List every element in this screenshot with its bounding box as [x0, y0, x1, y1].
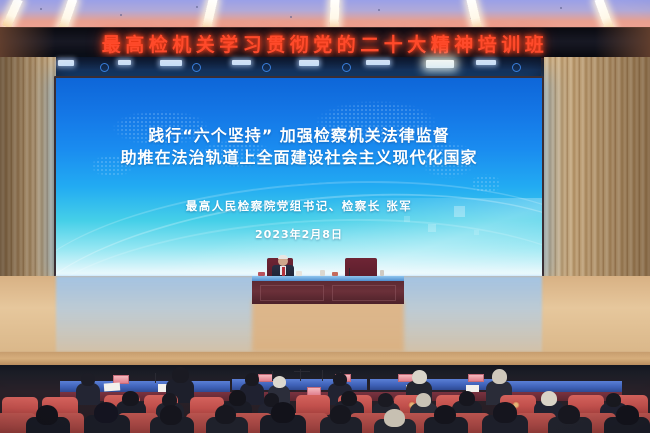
seated-attendee-head — [94, 402, 118, 423]
camera-lens-ring-icon — [342, 63, 351, 72]
stage-spotlight-icon — [232, 60, 251, 65]
stage-front-edge — [0, 352, 650, 365]
ceiling-downlight-dot — [560, 7, 562, 9]
podium-desk — [252, 276, 404, 304]
overhead-lighting-truss — [56, 57, 541, 79]
podium-cup — [380, 270, 384, 276]
stage-floor-warm-patch — [252, 300, 404, 352]
ceiling-downlight-dot — [120, 14, 122, 16]
delegate-name-card — [468, 374, 484, 382]
podium-panel-inset — [332, 285, 396, 301]
stage-spotlight-icon — [118, 60, 131, 65]
screen-accent-square — [404, 216, 410, 222]
seated-attendee-head — [330, 405, 351, 424]
podium-papers — [296, 271, 302, 276]
seated-attendee-head — [434, 405, 456, 424]
speaker-necktie — [282, 267, 285, 276]
seated-attendee-head — [271, 402, 295, 423]
podium-cup — [258, 272, 265, 276]
audience-seating-area — [0, 365, 650, 433]
seated-attendee-head — [273, 376, 286, 388]
camera-lens-ring-icon — [100, 63, 109, 72]
ceiling-downlight-dot — [378, 9, 380, 11]
seated-attendee-head — [541, 391, 557, 406]
podium-name-card — [332, 272, 338, 276]
speaker-hair — [278, 255, 288, 259]
conference-hall-photo: 最高检机关学习贯彻党的二十大精神培训班 践行“六个坚持” 加强检察机关法律监督 — [0, 0, 650, 433]
seated-attendee-head — [333, 373, 347, 386]
seated-attendee-head — [616, 405, 639, 425]
desk-microphone — [322, 370, 323, 381]
camera-lens-ring-icon — [262, 63, 271, 72]
stage-spotlight-icon — [366, 60, 390, 65]
camera-lens-ring-icon — [192, 63, 201, 72]
seated-attendee-head — [384, 409, 405, 427]
seated-attendee-head — [81, 373, 95, 386]
seated-attendee-head — [459, 391, 475, 406]
seated-attendee-head — [416, 393, 431, 407]
camera-lens-ring-icon — [512, 63, 521, 72]
desk-microphone-arm — [294, 371, 310, 372]
auditorium-ceiling — [0, 0, 650, 30]
screen-title-line-2: 助推在法治轨道上全面建设社会主义现代化国家 — [56, 144, 542, 168]
podium-cup — [320, 270, 325, 276]
podium-microphone — [349, 268, 350, 276]
stage-spotlight-icon — [476, 60, 496, 65]
stage-spotlight-icon — [426, 60, 454, 68]
screen-date: 2023年2月8日 — [56, 226, 542, 242]
desk-papers — [104, 382, 121, 391]
ceiling-downlight-dot — [290, 16, 292, 18]
screen-speaker-subtitle: 最高人民检察院党组书记、检察长 张军 — [56, 198, 542, 214]
stage-spotlight-icon — [160, 60, 182, 66]
ceiling-downlight-dot — [196, 6, 198, 8]
seated-attendee-head — [172, 367, 189, 383]
seated-attendee-head — [492, 369, 507, 384]
stage-spotlight-icon — [299, 60, 319, 66]
banner-edge-glow-left — [0, 27, 55, 57]
podium-panel-inset — [260, 285, 324, 301]
banner-edge-glow-right — [595, 27, 650, 57]
seated-attendee-head — [229, 390, 246, 406]
seated-attendee-shoulders — [76, 383, 100, 405]
front-row-desk — [502, 381, 622, 392]
ceiling-downlight-dot — [40, 8, 42, 10]
led-banner-text: 最高检机关学习贯彻党的二十大精神培训班 — [102, 30, 549, 57]
seated-attendee-head — [378, 393, 393, 407]
desk-microphone — [155, 373, 156, 383]
seated-attendee-head — [493, 402, 517, 423]
seated-attendee-head — [341, 391, 357, 406]
seated-attendee-head — [606, 393, 621, 407]
seated-attendee-head — [160, 405, 182, 425]
seated-attendee-head — [558, 405, 580, 424]
seated-attendee-head — [215, 405, 236, 424]
seated-attendee-head — [412, 370, 427, 384]
led-banner: 最高检机关学习贯彻党的二十大精神培训班 — [0, 27, 650, 59]
screen-title-line-1: 践行“六个坚持” 加强检察机关法律监督 — [56, 122, 542, 146]
auditorium-seat — [296, 395, 330, 415]
seated-attendee-head — [245, 373, 259, 386]
seated-attendee-head — [36, 405, 58, 425]
stage-spotlight-icon — [58, 60, 74, 66]
seated-attendee-head — [122, 391, 139, 406]
main-led-screen: 践行“六个坚持” 加强检察机关法律监督 助推在法治轨道上全面建设社会主义现代化国… — [56, 78, 542, 276]
delegate-name-card — [258, 374, 273, 382]
